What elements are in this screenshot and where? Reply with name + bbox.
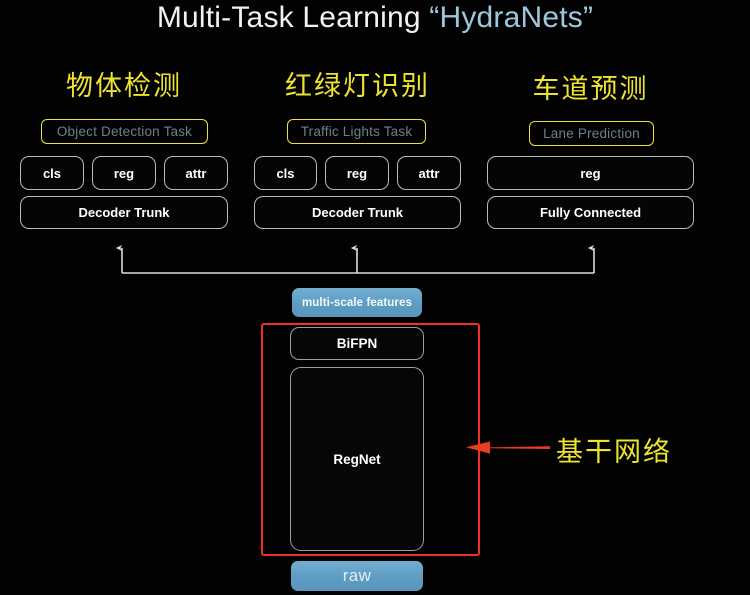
page-title-highlight: “HydraNets” (429, 1, 593, 34)
head1-output-attr[interactable]: attr (164, 156, 228, 190)
head2-output-attr[interactable]: attr (397, 156, 461, 190)
head1-output-cls[interactable]: cls (20, 156, 84, 190)
head2-output-cls[interactable]: cls (254, 156, 317, 190)
head2-decoder-trunk[interactable]: Decoder Trunk (254, 196, 461, 229)
slide-canvas: Multi-Task Learning “HydraNets” 物体检测 红绿灯… (0, 0, 750, 595)
page-title: Multi-Task Learning “HydraNets” (0, 1, 750, 35)
backbone-regnet-box[interactable]: RegNet (290, 367, 424, 551)
head2-output-reg[interactable]: reg (325, 156, 389, 190)
multi-scale-features-box[interactable]: multi-scale features (292, 288, 422, 317)
backbone-annotation-arrow-icon (462, 432, 552, 462)
task-pill-lane-prediction[interactable]: Lane Prediction (529, 121, 654, 146)
raw-input-box[interactable]: raw (291, 561, 423, 591)
backbone-annotation-label: 基干网络 (556, 430, 672, 469)
page-title-main: Multi-Task Learning (157, 1, 429, 34)
head3-output-reg[interactable]: reg (487, 156, 694, 190)
head-chinese-label-object-detection: 物体检测 (20, 64, 228, 103)
head1-decoder-trunk[interactable]: Decoder Trunk (20, 196, 228, 229)
head-chinese-label-traffic-lights: 红绿灯识别 (254, 64, 461, 103)
head-chinese-label-lane-prediction: 车道预测 (487, 67, 694, 106)
head3-fully-connected[interactable]: Fully Connected (487, 196, 694, 229)
head1-output-reg[interactable]: reg (92, 156, 156, 190)
task-pill-object-detection[interactable]: Object Detection Task (41, 119, 208, 144)
task-pill-traffic-lights[interactable]: Traffic Lights Task (287, 119, 426, 144)
backbone-bifpn-box[interactable]: BiFPN (290, 327, 424, 360)
